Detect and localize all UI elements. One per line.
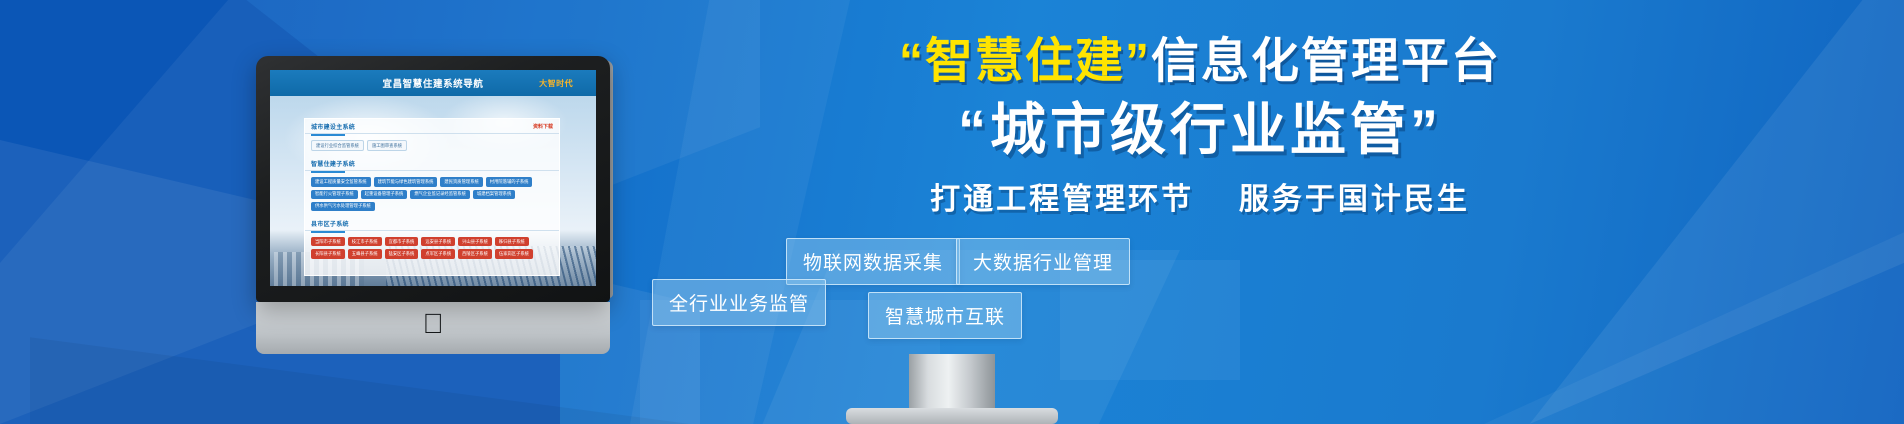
screen-chip[interactable]: 建民资质管理系统 (440, 177, 482, 186)
headline-line-1: “智慧住建”信息化管理平台 (650, 34, 1750, 89)
screen-chip[interactable]: 远安县子系统 (421, 237, 455, 246)
feature-tag-allindustry-supervision[interactable]: 全行业业务监管 (652, 279, 826, 326)
monitor-screen: 宜昌智慧住建系统导航 大智时代 湖北大智时代信息技术有限公司 城市建设主系统 资… (270, 70, 596, 286)
screen-section-title: 城市建设主系统 (311, 122, 355, 131)
screen-chip[interactable]: 五峰县子系统 (348, 249, 382, 258)
screen-header: 宜昌智慧住建系统导航 大智时代 湖北大智时代信息技术有限公司 (270, 70, 596, 96)
headline-line-1-rest: 信息化管理平台 (1151, 35, 1501, 88)
headline-highlight: “智慧住建” (899, 35, 1151, 88)
screen-chip[interactable]: 智能行火管理子系统 (311, 190, 358, 199)
screen-section-title: 县市区子系统 (311, 219, 349, 228)
company-logo-main: 大智时代 (539, 79, 573, 88)
screen-chip[interactable]: 兴山县子系统 (458, 237, 492, 246)
headline-line-3-part-b: 服务于国计民生 (1239, 183, 1470, 216)
monitor-stand-neck (909, 354, 995, 410)
screen-chip-group-county: 当阳市子系统 枝江市子系统 宜都市子系统 远安县子系统 兴山县子系统 秭归县子系… (305, 233, 559, 264)
screen-chip[interactable]: 城建档案管理系统 (473, 190, 515, 199)
screen-chip-group-main: 建设行业综合监管系统 施工图审查系统 (305, 136, 559, 156)
apple-logo-icon:  (423, 310, 444, 338)
screen-section-header: 智慧住建子系统 (305, 156, 559, 171)
screen-chip[interactable]: 伍家岗区子系统 (495, 249, 533, 258)
feature-tag-bigdata-industry[interactable]: 大数据行业管理 (956, 238, 1130, 285)
screen-chip[interactable]: 施工图审查系统 (367, 140, 407, 151)
feature-tag-smartcity-interconnect[interactable]: 智慧城市互联 (868, 292, 1022, 339)
screen-chip[interactable]: 猛安区子系统 (385, 249, 419, 258)
screen-header-title: 宜昌智慧住建系统导航 (382, 76, 483, 90)
screen-section-header: 城市建设主系统 资料下载 (305, 119, 559, 134)
screen-section-header: 县市区子系统 (305, 216, 559, 231)
monitor-chin:  (256, 302, 610, 354)
screen-chip[interactable]: 燃气企业监记录经监管系统 (410, 190, 470, 199)
screen-chip[interactable]: 宜都市子系统 (385, 237, 419, 246)
screen-chip[interactable]: 秭归县子系统 (495, 237, 529, 246)
screen-chip[interactable]: 起重设备管理子系统 (361, 190, 408, 199)
screen-chip[interactable]: 长阳县子系统 (311, 249, 345, 258)
screen-chip[interactable]: 建设行业综合监管系统 (311, 140, 364, 151)
screen-download-link[interactable]: 资料下载 (533, 123, 553, 130)
screen-chip[interactable]: 当阳市子系统 (311, 237, 345, 246)
screen-nav-panel: 城市建设主系统 资料下载 建设行业综合监管系统 施工图审查系统 智慧住建子系统 … (304, 118, 560, 276)
headline-line-2: “城市级行业监管” (650, 99, 1750, 162)
screen-chip-group-smart: 建设工程质量安全监管系统 建筑节能与绿色建筑管理系统 建民资质管理系统 村用院落… (305, 173, 559, 216)
monitor-mockup: 宜昌智慧住建系统导航 大智时代 湖北大智时代信息技术有限公司 城市建设主系统 资… (256, 56, 610, 302)
screen-chip[interactable]: 村用院落辅的子系统 (486, 177, 533, 186)
screen-chip[interactable]: 建筑节能与绿色建筑管理系统 (374, 177, 438, 186)
screen-section-title: 智慧住建子系统 (311, 159, 355, 168)
screen-chip[interactable]: 枝江市子系统 (348, 237, 382, 246)
screen-chip[interactable]: 供水供气污水处理管理子系统 (311, 202, 375, 211)
headline-line-3: 打通工程管理环节 服务于国计民生 (650, 174, 1750, 218)
screen-chip[interactable]: 建设工程质量安全监管系统 (311, 177, 371, 186)
monitor-bezel: 宜昌智慧住建系统导航 大智时代 湖北大智时代信息技术有限公司 城市建设主系统 资… (256, 56, 610, 302)
headline-line-3-part-a: 打通工程管理环节 (930, 183, 1194, 216)
screen-chip[interactable]: 点军区子系统 (421, 249, 455, 258)
promo-banner:  宜昌智慧住建系统导航 大智时代 湖北大智时代信息技术有限公司 (0, 0, 1904, 424)
monitor-stand-base (846, 408, 1058, 424)
feature-tag-iot-data[interactable]: 物联网数据采集 (786, 238, 960, 285)
headline-block: “智慧住建”信息化管理平台 “城市级行业监管” 打通工程管理环节 服务于国计民生 (650, 34, 1750, 218)
screen-chip[interactable]: 西陵区子系统 (458, 249, 492, 258)
